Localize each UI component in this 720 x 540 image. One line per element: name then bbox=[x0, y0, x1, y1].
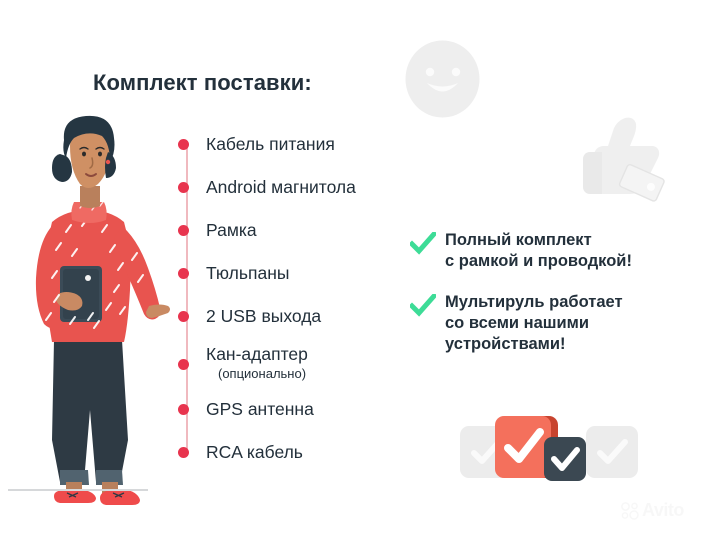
avito-watermark-text: Avito bbox=[642, 500, 684, 521]
avito-watermark: Avito bbox=[620, 500, 684, 521]
list-item-label: Рамка bbox=[206, 220, 257, 240]
list-item: RCA кабель bbox=[178, 441, 303, 463]
bullet-dot-icon bbox=[178, 225, 189, 236]
list-item: 2 USB выхода bbox=[178, 305, 321, 327]
list-item: Android магнитола bbox=[178, 176, 356, 198]
benefit-line: Полный комплект bbox=[445, 231, 592, 249]
list-item: GPS антенна bbox=[178, 398, 314, 420]
checkbox-card-gray-right bbox=[586, 426, 638, 478]
bullet-dot-icon bbox=[178, 139, 189, 150]
checkbox-card-red bbox=[495, 416, 551, 478]
bullet-dot-icon bbox=[178, 268, 189, 279]
green-check-icon bbox=[410, 232, 436, 256]
bullet-dot-icon bbox=[178, 311, 189, 322]
list-item: Кан-адаптер (опционально) bbox=[178, 343, 308, 383]
list-item-label: Кабель питания bbox=[206, 134, 335, 154]
list-item-label: GPS антенна bbox=[206, 399, 314, 419]
list-item-label: RCA кабель bbox=[206, 442, 303, 462]
list-item-sublabel: (опционально) bbox=[218, 366, 306, 381]
green-check-icon bbox=[410, 294, 436, 318]
page-title: Комплект поставки: bbox=[93, 70, 312, 96]
bullet-dot-icon bbox=[178, 359, 189, 370]
bullet-dot-icon bbox=[178, 182, 189, 193]
promo-banner: Комплект поставки: Кабель питания Androi… bbox=[0, 0, 720, 540]
checkbox-card-navy bbox=[544, 437, 586, 481]
list-item-label: Android магнитола bbox=[206, 177, 356, 197]
benefit-item: Мультируль работает со всеми нашими устр… bbox=[410, 292, 623, 355]
list-item-label: 2 USB выхода bbox=[206, 306, 321, 326]
bullet-dot-icon bbox=[178, 447, 189, 458]
benefit-item: Полный комплект с рамкой и проводкой! bbox=[410, 230, 632, 272]
smiley-face-icon bbox=[405, 40, 480, 118]
woman-with-tablet-illustration bbox=[10, 110, 170, 505]
benefit-line: с рамкой и проводкой! bbox=[445, 252, 632, 270]
benefit-line: устройствами! bbox=[445, 335, 566, 353]
benefit-line: со всеми нашими bbox=[445, 314, 589, 332]
benefit-line: Мультируль работает bbox=[445, 293, 623, 311]
white-check-icon bbox=[544, 437, 586, 481]
white-check-icon bbox=[495, 416, 551, 478]
list-item-label: Тюльпаны bbox=[206, 263, 289, 283]
list-item: Рамка bbox=[178, 219, 257, 241]
list-item: Кабель питания bbox=[178, 133, 335, 155]
avito-logo-icon bbox=[620, 501, 640, 521]
ground-line bbox=[8, 489, 148, 491]
thumbs-up-icon bbox=[578, 108, 668, 203]
list-item-label: Кан-адаптер bbox=[206, 344, 308, 364]
white-check-icon bbox=[586, 426, 638, 478]
bullet-dot-icon bbox=[178, 404, 189, 415]
checkbox-cards-cluster bbox=[460, 410, 640, 490]
list-item: Тюльпаны bbox=[178, 262, 289, 284]
